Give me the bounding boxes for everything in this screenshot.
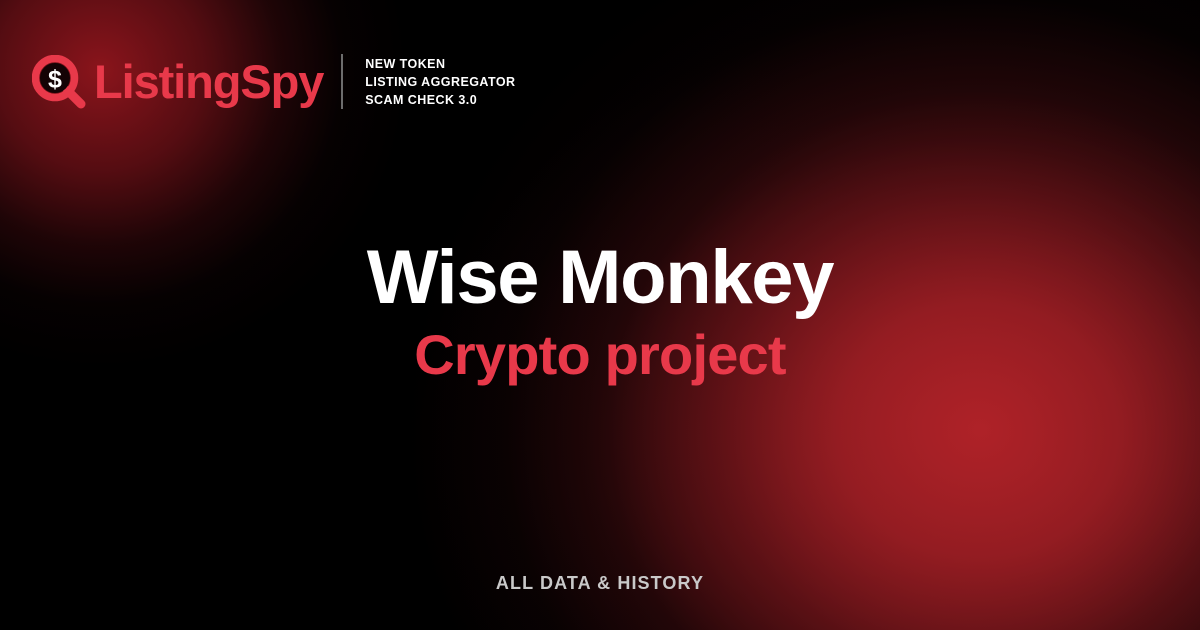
page-subtitle: Crypto project	[0, 326, 1200, 385]
brand-wordmark: ListingSpy	[94, 58, 323, 105]
banner-canvas: $ ListingSpy NEW TOKEN LISTING AGGREGATO…	[0, 0, 1200, 630]
magnifier-dollar-icon: $	[32, 55, 86, 109]
brand-tagline: NEW TOKEN LISTING AGGREGATOR SCAM CHECK …	[365, 56, 515, 108]
footer-caption: ALL DATA & HISTORY	[496, 573, 704, 594]
logo-lockup[interactable]: $ ListingSpy	[32, 55, 323, 109]
hero-block: Wise Monkey Crypto project	[0, 238, 1200, 385]
footer-block: ALL DATA & HISTORY	[0, 573, 1200, 594]
svg-text:$: $	[48, 65, 62, 93]
tagline-line-2: LISTING AGGREGATOR	[365, 74, 515, 90]
tagline-line-1: NEW TOKEN	[365, 56, 515, 72]
tagline-line-3: SCAM CHECK 3.0	[365, 92, 515, 108]
brand-header: $ ListingSpy NEW TOKEN LISTING AGGREGATO…	[32, 54, 515, 109]
page-title: Wise Monkey	[0, 238, 1200, 318]
header-divider	[341, 54, 343, 109]
